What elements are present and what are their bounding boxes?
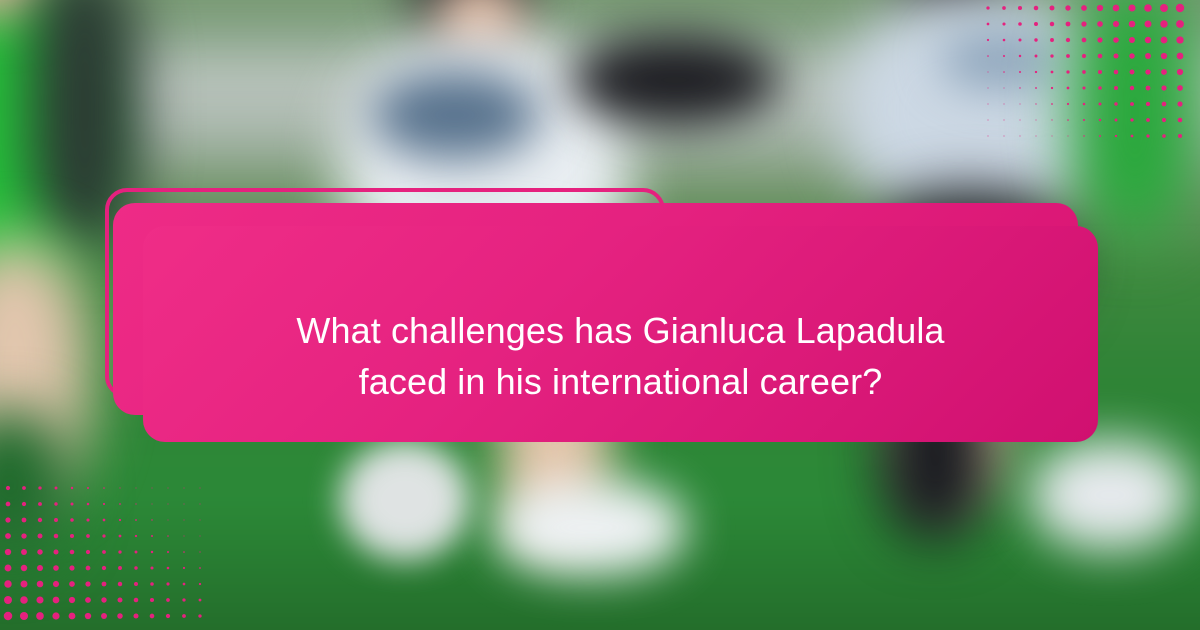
card-front-panel: What challenges has Gianluca Lapadula fa…: [143, 226, 1098, 442]
question-text: What challenges has Gianluca Lapadula fa…: [143, 305, 1098, 407]
question-card-group: What challenges has Gianluca Lapadula fa…: [0, 0, 1200, 630]
question-line-1: What challenges has Gianluca Lapadula: [177, 305, 1064, 356]
question-line-2: faced in his international career?: [177, 356, 1064, 407]
share-card-canvas: What challenges has Gianluca Lapadula fa…: [0, 0, 1200, 630]
